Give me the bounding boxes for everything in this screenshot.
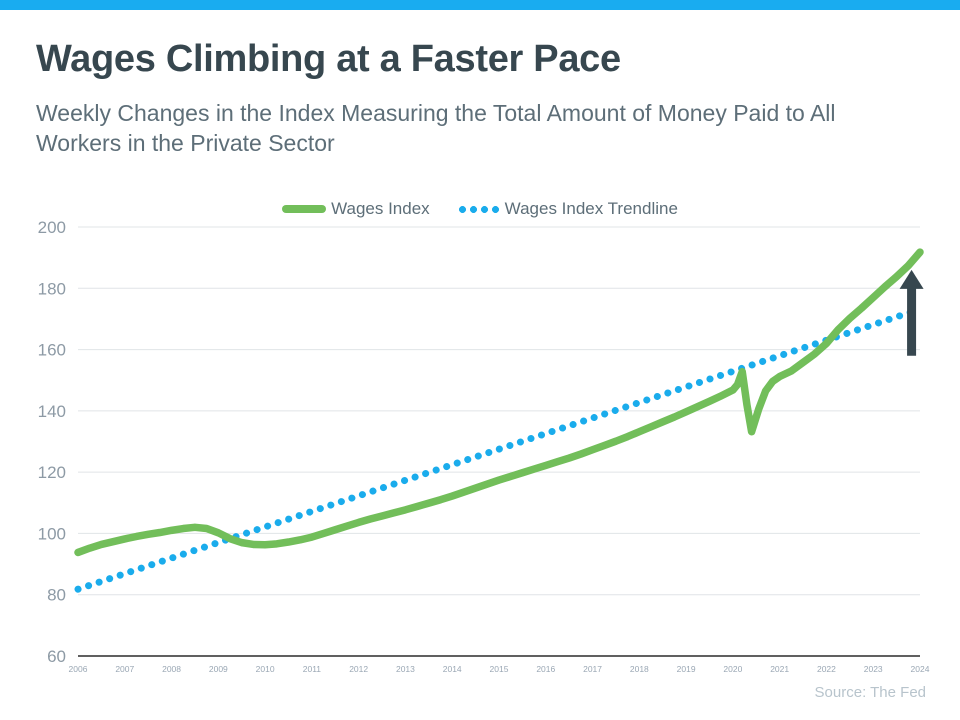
- x-axis-tick-label: 2006: [69, 664, 88, 674]
- y-axis-tick-label: 180: [38, 279, 66, 298]
- page-subtitle: Weekly Changes in the Index Measuring th…: [36, 98, 926, 158]
- y-axis-tick-label: 100: [38, 524, 66, 543]
- y-axis-tick-label: 60: [47, 647, 66, 666]
- x-axis-tick-label: 2020: [723, 664, 742, 674]
- y-axis-tick-label: 80: [47, 586, 66, 605]
- x-axis-labels-group: 2006200720082009201020112012201320142015…: [69, 664, 930, 674]
- chart-container: Wages Index Wages Index Trendline 608010…: [0, 195, 960, 675]
- y-axis-tick-label: 160: [38, 341, 66, 360]
- x-axis-tick-label: 2013: [396, 664, 415, 674]
- x-axis-tick-label: 2022: [817, 664, 836, 674]
- wages-index-series-path: [78, 252, 920, 552]
- arrow-up-icon: [900, 270, 924, 356]
- gridlines-group: [78, 227, 920, 656]
- source-caption: Source: The Fed: [815, 684, 926, 701]
- x-axis-tick-label: 2014: [443, 664, 462, 674]
- x-axis-tick-label: 2015: [490, 664, 509, 674]
- line-chart-plot: 6080100120140160180200 20062007200820092…: [0, 195, 960, 675]
- x-axis-tick-label: 2016: [536, 664, 555, 674]
- x-axis-tick-label: 2018: [630, 664, 649, 674]
- trendline-series-path: [78, 309, 920, 589]
- x-axis-tick-label: 2019: [677, 664, 696, 674]
- x-axis-tick-label: 2007: [115, 664, 134, 674]
- x-axis-tick-label: 2024: [911, 664, 930, 674]
- y-axis-tick-label: 140: [38, 402, 66, 421]
- y-axis-tick-label: 200: [38, 218, 66, 237]
- x-axis-tick-label: 2012: [349, 664, 368, 674]
- page-title: Wages Climbing at a Faster Pace: [36, 38, 621, 81]
- x-axis-tick-label: 2010: [256, 664, 275, 674]
- y-axis-labels-group: 6080100120140160180200: [38, 218, 66, 666]
- x-axis-tick-label: 2023: [864, 664, 883, 674]
- x-axis-tick-label: 2011: [303, 664, 322, 674]
- x-axis-tick-label: 2009: [209, 664, 228, 674]
- top-accent-bar: [0, 0, 960, 10]
- y-axis-tick-label: 120: [38, 463, 66, 482]
- x-axis-tick-label: 2021: [770, 664, 789, 674]
- x-axis-tick-label: 2008: [162, 664, 181, 674]
- x-axis-tick-label: 2017: [583, 664, 602, 674]
